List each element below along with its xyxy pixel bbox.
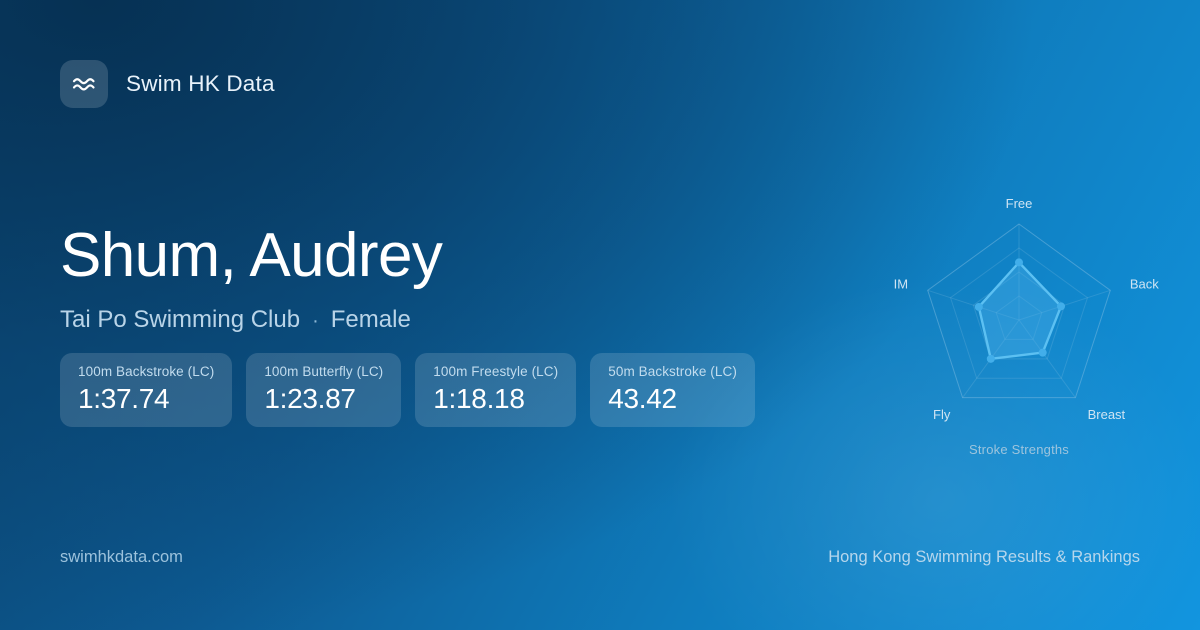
radar-point-back bbox=[1057, 302, 1065, 310]
athlete-meta: Tai Po Swimming Club · Female bbox=[60, 306, 442, 335]
footer-site-url: swimhkdata.com bbox=[60, 548, 183, 567]
radar-label-breast: Breast bbox=[1088, 407, 1126, 422]
radar-series-area bbox=[979, 262, 1061, 358]
stat-card: 100m Freestyle (LC) 1:18.18 bbox=[415, 353, 576, 427]
stat-card: 50m Backstroke (LC) 43.42 bbox=[590, 353, 755, 427]
stat-card: 100m Butterfly (LC) 1:23.87 bbox=[246, 353, 401, 427]
stat-time-value: 43.42 bbox=[608, 384, 737, 414]
stroke-strengths-radar-chart: FreeBackBreastFlyIM Stroke Strengths bbox=[869, 170, 1169, 470]
stat-event-label: 100m Backstroke (LC) bbox=[78, 364, 214, 379]
stat-time-value: 1:23.87 bbox=[264, 384, 383, 414]
page-title: Shum, Audrey bbox=[60, 218, 442, 294]
athlete-club: Tai Po Swimming Club bbox=[60, 306, 300, 334]
radar-point-free bbox=[1015, 258, 1023, 266]
radar-label-free: Free bbox=[1006, 196, 1033, 211]
athlete-heading: Shum, Audrey Tai Po Swimming Club · Fema… bbox=[60, 218, 442, 335]
best-times-row: 100m Backstroke (LC) 1:37.74 100m Butter… bbox=[60, 353, 755, 427]
radar-label-im: IM bbox=[894, 277, 908, 292]
meta-separator: · bbox=[312, 307, 319, 335]
waves-icon bbox=[60, 60, 108, 108]
footer-tagline: Hong Kong Swimming Results & Rankings bbox=[828, 548, 1140, 567]
radar-label-back: Back bbox=[1130, 277, 1159, 292]
brand-name: Swim HK Data bbox=[126, 71, 275, 97]
athlete-gender: Female bbox=[331, 306, 411, 334]
stat-event-label: 50m Backstroke (LC) bbox=[608, 364, 737, 379]
stat-time-value: 1:18.18 bbox=[433, 384, 558, 414]
stat-event-label: 100m Butterfly (LC) bbox=[264, 364, 383, 379]
brand-header: Swim HK Data bbox=[60, 60, 275, 108]
radar-point-im bbox=[975, 303, 983, 311]
stat-time-value: 1:37.74 bbox=[78, 384, 214, 414]
radar-label-fly: Fly bbox=[933, 407, 951, 422]
radar-point-breast bbox=[1039, 349, 1047, 357]
radar-point-fly bbox=[987, 355, 995, 363]
stat-event-label: 100m Freestyle (LC) bbox=[433, 364, 558, 379]
stat-card: 100m Backstroke (LC) 1:37.74 bbox=[60, 353, 232, 427]
radar-caption: Stroke Strengths bbox=[869, 442, 1169, 457]
share-card: Swim HK Data Shum, Audrey Tai Po Swimmin… bbox=[0, 0, 1200, 630]
